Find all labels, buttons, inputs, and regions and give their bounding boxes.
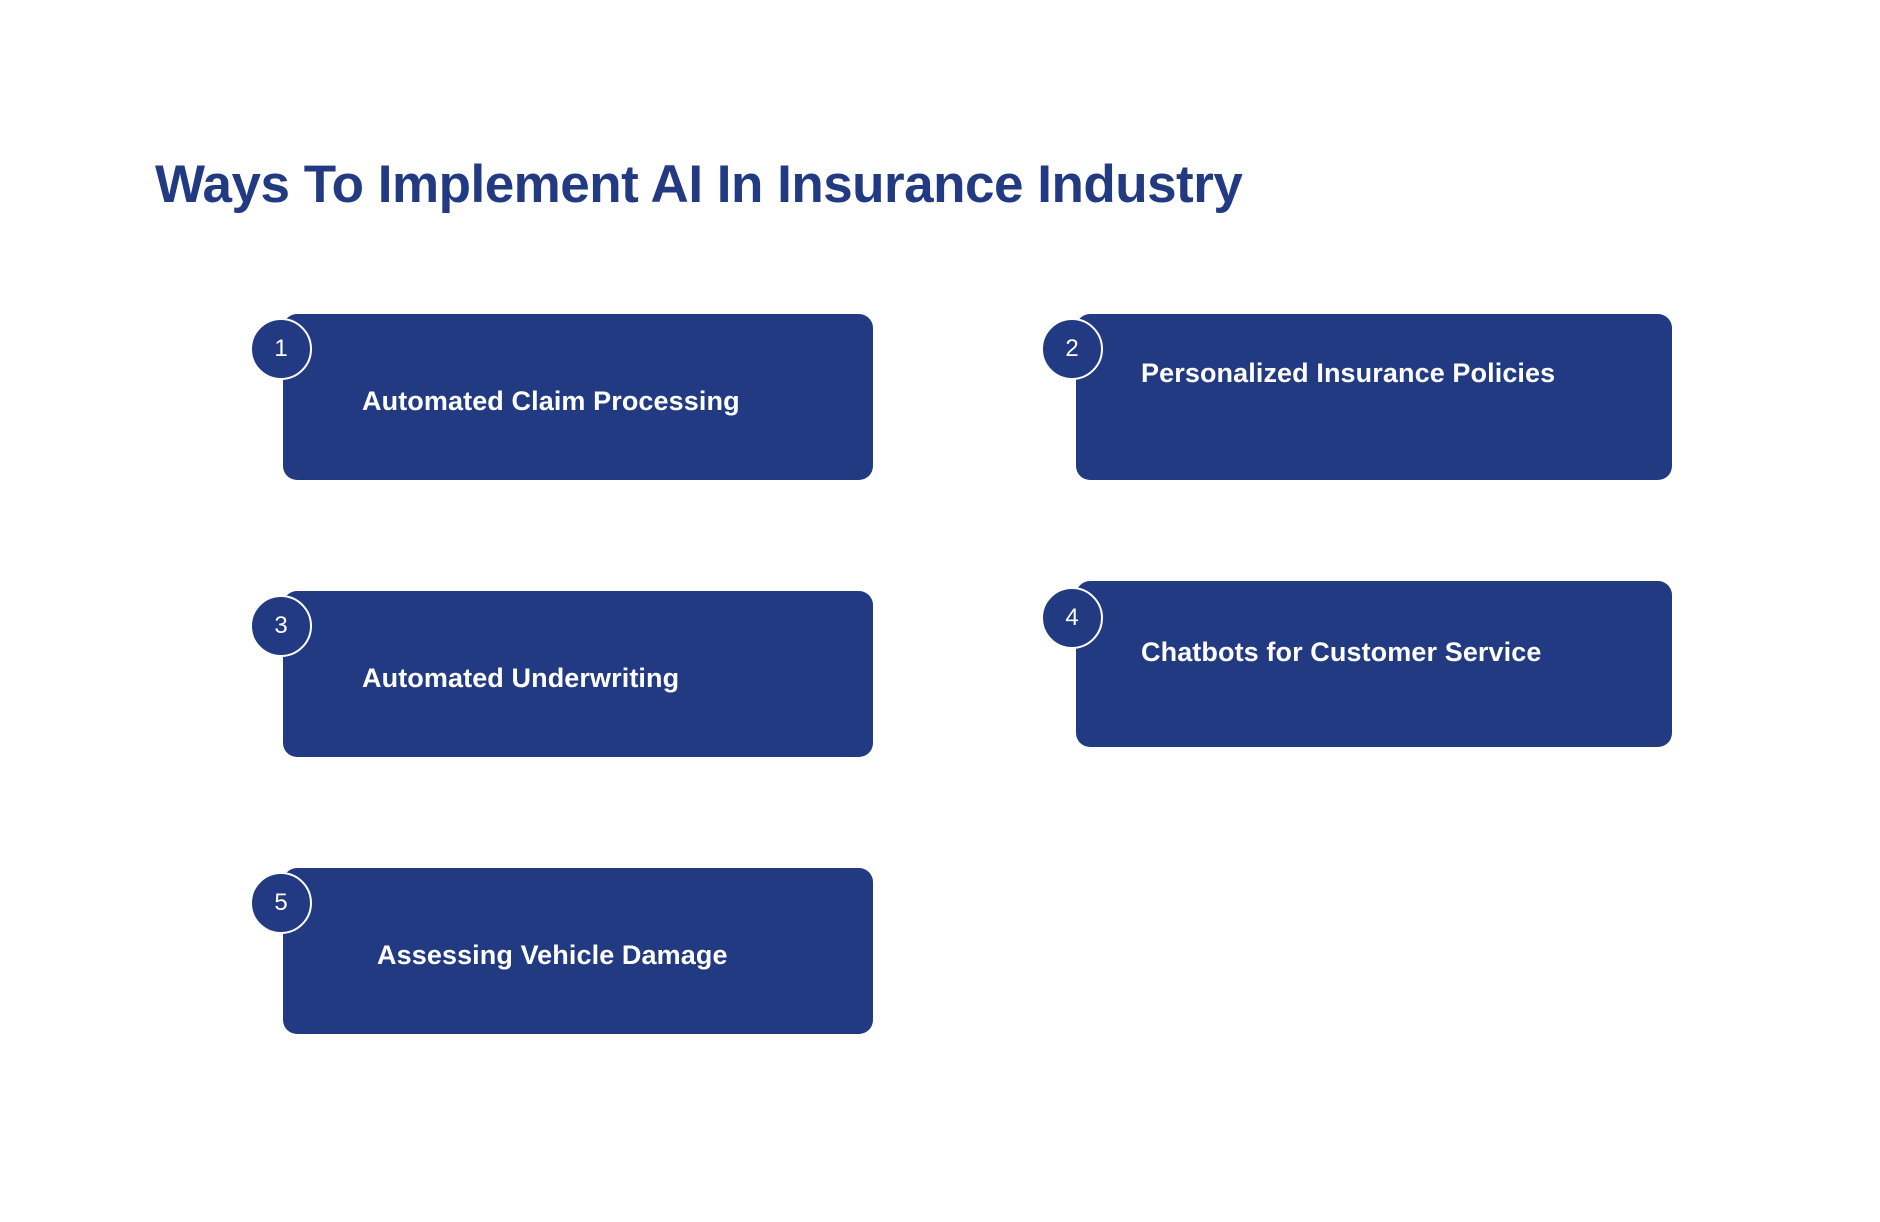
step-number-badge-5: 5: [250, 872, 312, 934]
step-number-badge-2: 2: [1041, 318, 1103, 380]
step-number-badge-1: 1: [250, 318, 312, 380]
step-card-label: Chatbots for Customer Service: [1141, 636, 1542, 668]
steps-grid: Automated Claim Processing 1 Personalize…: [0, 0, 1880, 1222]
step-card-5[interactable]: Assessing Vehicle Damage: [283, 868, 873, 1034]
step-card-4[interactable]: Chatbots for Customer Service: [1076, 581, 1672, 747]
infographic-canvas: Ways To Implement AI In Insurance Indust…: [0, 0, 1880, 1222]
step-card-label: Personalized Insurance Policies: [1141, 357, 1555, 389]
step-card-3[interactable]: Automated Underwriting: [283, 591, 873, 757]
step-card-2[interactable]: Personalized Insurance Policies: [1076, 314, 1672, 480]
step-card-1[interactable]: Automated Claim Processing: [283, 314, 873, 480]
step-card-label: Automated Underwriting: [362, 662, 679, 694]
step-number-badge-3: 3: [250, 595, 312, 657]
step-number-badge-4: 4: [1041, 587, 1103, 649]
step-card-label: Assessing Vehicle Damage: [377, 939, 728, 971]
step-card-label: Automated Claim Processing: [362, 385, 740, 417]
